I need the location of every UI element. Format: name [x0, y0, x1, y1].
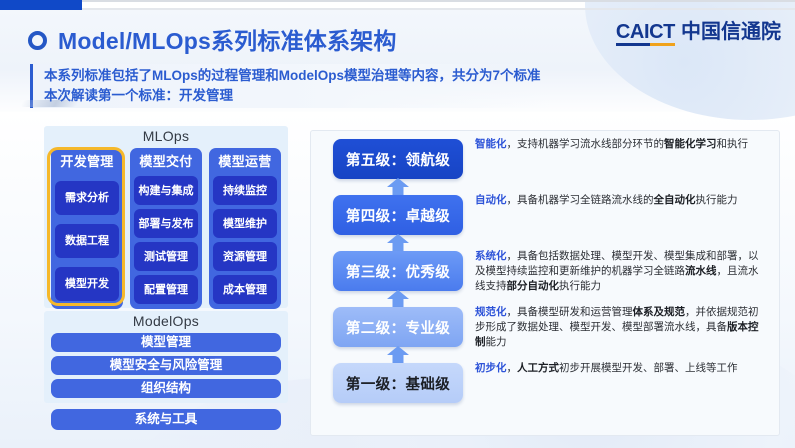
- logo-cn-label: 中国信通院: [681, 22, 781, 46]
- systems-and-tools-row[interactable]: 系统与工具: [51, 409, 281, 430]
- column-header: 模型运营: [213, 152, 277, 172]
- ring-icon: [28, 31, 47, 50]
- maturity-model-panel: 第五级：领航级 智能化，支持机器学习流水线部分环节的智能化学习和执行 第四级：卓…: [310, 130, 780, 436]
- modelops-row[interactable]: 组织结构: [51, 379, 281, 398]
- maturity-row: 第五级：领航级 智能化，支持机器学习流水线部分环节的智能化学习和执行: [323, 139, 768, 195]
- maturity-desc-3: 系统化，具备包括数据处理、模型开发、模型集成和部署，以及模型持续监控和更新维护的…: [475, 249, 765, 294]
- subtitle-line-2: 本次解读第一个标准：开发管理: [44, 86, 574, 106]
- mlops-item[interactable]: 持续监控: [213, 176, 277, 205]
- maturity-level-4[interactable]: 第四级：卓越级: [333, 195, 463, 235]
- modelops-caption: ModelOps: [44, 313, 288, 329]
- maturity-row: 第四级：卓越级 自动化，具备机器学习全链路流水线的全自动化执行能力: [323, 195, 768, 251]
- maturity-level-3[interactable]: 第三级：优秀级: [333, 251, 463, 291]
- mlops-column-delivery[interactable]: 模型交付 构建与集成 部署与发布 测试管理 配置管理: [130, 148, 202, 309]
- mlops-item[interactable]: 测试管理: [134, 242, 198, 271]
- maturity-row: 第二级：专业级 规范化，具备模型研发和运营管理体系及规范，并依据规范初步形成了数…: [323, 307, 768, 363]
- mlops-item[interactable]: 配置管理: [134, 275, 198, 304]
- subtitle-text: 本系列标准包括了MLOps的过程管理和ModelOps模型治理等内容，共分为7个…: [44, 66, 574, 106]
- top-divider-secondary: [82, 8, 795, 10]
- caict-logo: CAICT 中国信通院: [616, 22, 781, 46]
- modelops-row[interactable]: 模型安全与风险管理: [51, 356, 281, 375]
- mlops-item[interactable]: 成本管理: [213, 275, 277, 304]
- mlops-column-operations[interactable]: 模型运营 持续监控 模型维护 资源管理 成本管理: [209, 148, 281, 309]
- mlops-item[interactable]: 构建与集成: [134, 176, 198, 205]
- highlight-outline-dev-column: [47, 147, 125, 306]
- logo-en-label: CAICT: [616, 21, 675, 43]
- maturity-level-1[interactable]: 第一级：基础级: [333, 363, 463, 403]
- page-header: Model/MLOps系列标准体系架构: [28, 22, 397, 56]
- modelops-group: ModelOps 模型管理 模型安全与风险管理 组织结构: [44, 311, 288, 403]
- mlops-item[interactable]: 模型维护: [213, 209, 277, 238]
- top-divider: [0, 0, 795, 2]
- maturity-row: 第一级：基础级 初步化，人工方式初步开展模型开发、部署、上线等工作: [323, 363, 768, 419]
- maturity-ladder: 第五级：领航级 智能化，支持机器学习流水线部分环节的智能化学习和执行 第四级：卓…: [323, 139, 768, 419]
- page-title: Model/MLOps系列标准体系架构: [58, 22, 397, 56]
- mlops-caption: MLOps: [44, 128, 288, 144]
- maturity-row: 第三级：优秀级 系统化，具备包括数据处理、模型开发、模型集成和部署，以及模型持续…: [323, 251, 768, 307]
- maturity-level-5[interactable]: 第五级：领航级: [333, 139, 463, 179]
- maturity-desc-4: 自动化，具备机器学习全链路流水线的全自动化执行能力: [475, 193, 765, 208]
- mlops-item[interactable]: 资源管理: [213, 242, 277, 271]
- up-arrow-icon: [386, 234, 410, 251]
- up-arrow-icon: [386, 290, 410, 307]
- maturity-desc-5: 智能化，支持机器学习流水线部分环节的智能化学习和执行: [475, 137, 765, 152]
- logo-underline: [616, 43, 675, 46]
- slide-root: Model/MLOps系列标准体系架构 CAICT 中国信通院 本系列标准包括了…: [0, 0, 795, 448]
- maturity-desc-2: 规范化，具备模型研发和运营管理体系及规范，并依据规范初步形成了数据处理、模型开发…: [475, 305, 765, 350]
- mlops-item[interactable]: 部署与发布: [134, 209, 198, 238]
- up-arrow-icon: [386, 178, 410, 195]
- up-arrow-icon: [386, 346, 410, 363]
- maturity-desc-1: 初步化，人工方式初步开展模型开发、部署、上线等工作: [475, 361, 765, 376]
- subtitle-line-1: 本系列标准包括了MLOps的过程管理和ModelOps模型治理等内容，共分为7个…: [44, 66, 574, 86]
- top-accent-bar: [0, 0, 82, 10]
- modelops-row[interactable]: 模型管理: [51, 333, 281, 352]
- column-header: 模型交付: [134, 152, 198, 172]
- maturity-level-2[interactable]: 第二级：专业级: [333, 307, 463, 347]
- standards-architecture-panel: MLOps 开发管理 需求分析 数据工程 模型开发 模型交付 构建与集成 部署与…: [44, 126, 288, 436]
- logo-en-text: CAICT: [616, 22, 675, 46]
